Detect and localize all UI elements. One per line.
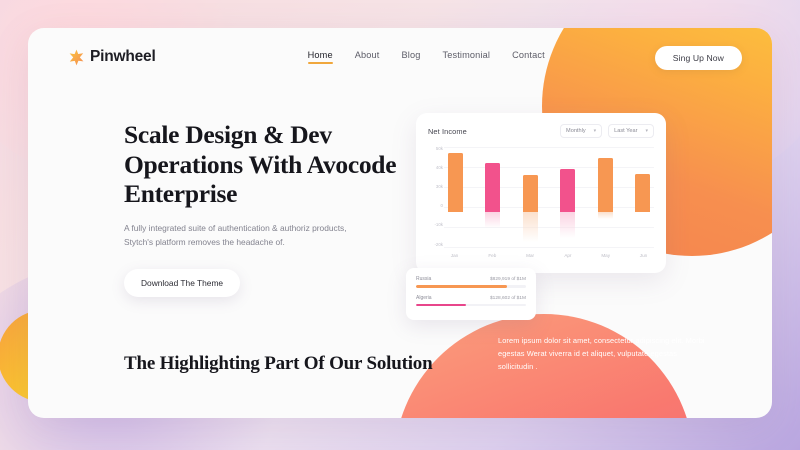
brand-name: Pinwheel — [90, 48, 156, 66]
landing-page-card: Pinwheel Home About Blog Testimonial Con… — [28, 28, 772, 418]
range-select[interactable]: Last Year ▾ — [608, 124, 654, 138]
chart-title: Net Income — [428, 127, 467, 136]
range-select-value: Last Year — [614, 128, 637, 134]
chart-bar-negative — [560, 212, 575, 238]
nav-item-contact[interactable]: Contact — [512, 50, 545, 64]
blob-text-block: Lorem ipsum dolor sit amet, consectetur … — [498, 335, 714, 374]
blob-paragraph: Lorem ipsum dolor sit amet, consectetur … — [498, 335, 714, 374]
y-tick: 0 — [441, 204, 443, 208]
chart-bar-negative — [485, 212, 500, 228]
chart-bar-positive — [598, 158, 613, 212]
bottom-section: The Highlighting Part Of Our Solution — [124, 353, 432, 376]
x-tick: Jan — [446, 253, 463, 258]
chart-bar[interactable] — [485, 147, 500, 247]
period-select-value: Monthly — [566, 128, 586, 134]
chart-bar[interactable] — [523, 147, 538, 247]
country-progress-row: Russia$829,919 of $1M — [416, 276, 526, 288]
y-tick: 50k — [436, 147, 443, 151]
hero-heading: Scale Design & Dev Operations With Avoco… — [124, 120, 414, 209]
chart-bar-positive — [485, 163, 500, 211]
chart-bar[interactable] — [560, 147, 575, 247]
x-tick: Jun — [635, 253, 652, 258]
chart-bar-positive — [523, 175, 538, 211]
x-tick: Mar — [522, 253, 539, 258]
nav-item-home[interactable]: Home — [308, 50, 333, 64]
brand-logo[interactable]: Pinwheel — [68, 48, 156, 66]
nav-item-blog[interactable]: Blog — [401, 50, 420, 64]
x-axis-tick-labels: JanFebMarAprMayJun — [444, 253, 654, 258]
chart-bar-positive — [560, 169, 575, 211]
country-progress-row: Algeria$128,602 of $1M — [416, 295, 526, 307]
bottom-heading: The Highlighting Part Of Our Solution — [124, 353, 432, 376]
nav-menu: Home About Blog Testimonial Contact — [308, 50, 545, 64]
y-axis-tick-labels: 50k 40k 30k 0 -10k -20k — [428, 147, 443, 247]
country-name: Russia — [416, 276, 431, 282]
nav-item-testimonial[interactable]: Testimonial — [442, 50, 490, 64]
y-tick: 40k — [436, 166, 443, 170]
country-progress-card: Russia$829,919 of $1MAlgeria$128,602 of … — [406, 268, 536, 320]
chevron-down-icon: ▾ — [645, 128, 648, 134]
progress-track — [416, 285, 526, 288]
nav-item-about[interactable]: About — [355, 50, 380, 64]
top-navigation-bar: Pinwheel Home About Blog Testimonial Con… — [28, 28, 772, 86]
y-tick: 30k — [436, 185, 443, 189]
country-amount: $829,919 of $1M — [490, 277, 526, 282]
chart-bar[interactable] — [635, 147, 650, 247]
chart-card-header: Net Income Monthly ▾ Last Year ▾ — [428, 124, 654, 138]
chart-bar-negative — [523, 212, 538, 243]
chart-bar-negative — [598, 212, 613, 219]
gridline — [444, 247, 654, 248]
chart-bars — [444, 147, 654, 247]
download-theme-button[interactable]: Download The Theme — [124, 269, 240, 297]
country-amount: $128,602 of $1M — [490, 296, 526, 301]
chevron-down-icon: ▾ — [594, 128, 597, 134]
chart-bar-positive — [448, 153, 463, 212]
bar-chart-plot: 50k 40k 30k 0 -10k -20k JanFebMarAprMayJ… — [428, 147, 654, 247]
x-tick: May — [597, 253, 614, 258]
y-tick: -20k — [434, 243, 443, 247]
net-income-chart-card: Net Income Monthly ▾ Last Year ▾ 50k 40k… — [416, 113, 666, 273]
hero-section: Scale Design & Dev Operations With Avoco… — [124, 120, 414, 297]
x-tick: Feb — [484, 253, 501, 258]
chart-bar[interactable] — [598, 147, 613, 247]
progress-fill — [416, 304, 466, 307]
x-tick: Apr — [559, 253, 576, 258]
progress-fill — [416, 285, 507, 288]
period-select[interactable]: Monthly ▾ — [560, 124, 602, 138]
y-tick: -10k — [434, 223, 443, 227]
chart-filters: Monthly ▾ Last Year ▾ — [560, 124, 654, 138]
chart-bar-positive — [635, 174, 650, 212]
country-name: Algeria — [416, 295, 432, 301]
progress-track — [416, 304, 526, 307]
pinwheel-plus-icon — [68, 49, 85, 66]
chart-bar[interactable] — [448, 147, 463, 247]
hero-paragraph: A fully integrated suite of authenticati… — [124, 222, 356, 250]
